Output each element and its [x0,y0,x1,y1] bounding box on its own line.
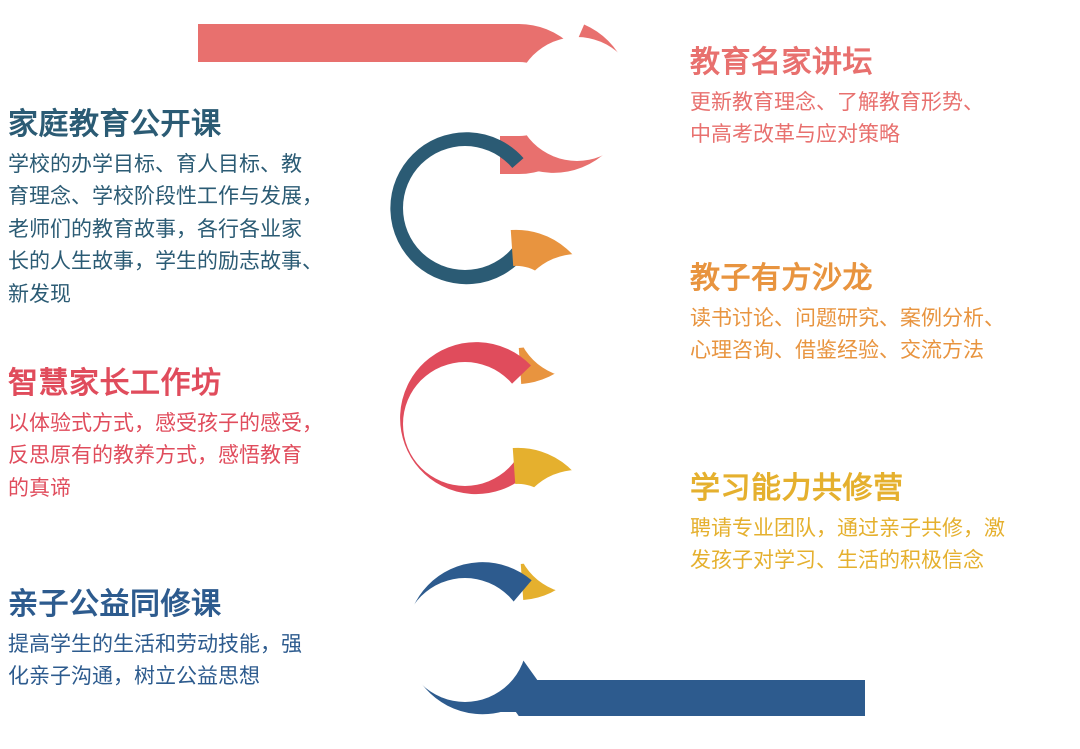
desc-line: 反思原有的教养方式，感悟教育 [8,444,302,467]
desc-line: 发孩子对学习、生活的积极信念 [690,549,984,572]
step-title-06: 亲子公益同修课 [8,588,386,623]
step-description-02: 学校的办学目标、育人目标、教 育理念、学校阶段性工作与发展， 老师们的教育故事，… [8,149,386,312]
step-title-02: 家庭教育公开课 [8,108,386,143]
desc-line: 新发现 [8,283,71,306]
desc-line: 聘请专业团队，通过亲子共修，激 [690,517,1005,540]
desc-line: 学校的办学目标、育人目标、教 [8,153,302,176]
step-text-01: 教育名家讲坛 更新教育理念、了解教育形势、 中高考改革与应对策略 [690,46,1070,152]
step-description-06: 提高学生的生活和劳动技能，强 化亲子沟通，树立公益思想 [8,629,386,694]
step-title-01: 教育名家讲坛 [690,46,1070,81]
desc-line: 长的人生故事，学生的励志故事、 [8,250,323,273]
step-text-05: 学习能力共修营 聘请专业团队，通过亲子共修，激 发孩子对学习、生活的积极信念 [690,472,1070,578]
step-description-03: 读书讨论、问题研究、案例分析、 心理咨询、借鉴经验、交流方法 [690,303,1070,368]
desc-line: 读书讨论、问题研究、案例分析、 [690,307,1005,330]
desc-line: 心理咨询、借鉴经验、交流方法 [690,339,984,362]
step-text-06: 亲子公益同修课 提高学生的生活和劳动技能，强 化亲子沟通，树立公益思想 [8,588,386,694]
step-text-02: 家庭教育公开课 学校的办学目标、育人目标、教 育理念、学校阶段性工作与发展， 老… [8,108,386,311]
desc-line: 的真谛 [8,477,71,500]
step-graphic-03 [512,248,622,366]
step-description-04: 以体验式方式，感受孩子的感受， 反思原有的教养方式，感悟教育 的真谛 [8,408,386,506]
step-graphic-05 [514,466,622,582]
desc-line: 以体验式方式，感受孩子的感受， [8,412,323,435]
desc-line: 中高考改革与应对策略 [690,123,900,146]
desc-line: 育理念、学校阶段性工作与发展， [8,185,323,208]
step-description-05: 聘请专业团队，通过亲子共修，激 发孩子对学习、生活的积极信念 [690,513,1070,578]
step-title-03: 教子有方沙龙 [690,262,1070,297]
step-text-03: 教子有方沙龙 读书讨论、问题研究、案例分析、 心理咨询、借鉴经验、交流方法 [690,262,1070,368]
step-text-04: 智慧家长工作坊 以体验式方式，感受孩子的感受， 反思原有的教养方式，感悟教育 的… [8,367,386,505]
step-graphic-02 [408,150,512,266]
step-title-04: 智慧家长工作坊 [8,367,386,402]
step-title-05: 学习能力共修营 [690,472,1070,507]
desc-line: 更新教育理念、了解教育形势、 [690,91,984,114]
step-graphic-06 [420,580,865,712]
desc-line: 老师们的教育故事，各行各业家 [8,218,302,241]
step-description-01: 更新教育理念、了解教育形势、 中高考改革与应对策略 [690,87,1070,152]
desc-line: 提高学生的生活和劳动技能，强 [8,633,302,656]
step-graphic-04 [418,360,518,476]
infographic-canvas: 01 02 03 04 05 06 教育名家讲坛 更新教育理念、了解教育形势、 … [0,0,1080,749]
desc-line: 化亲子沟通，树立公益思想 [8,665,260,688]
